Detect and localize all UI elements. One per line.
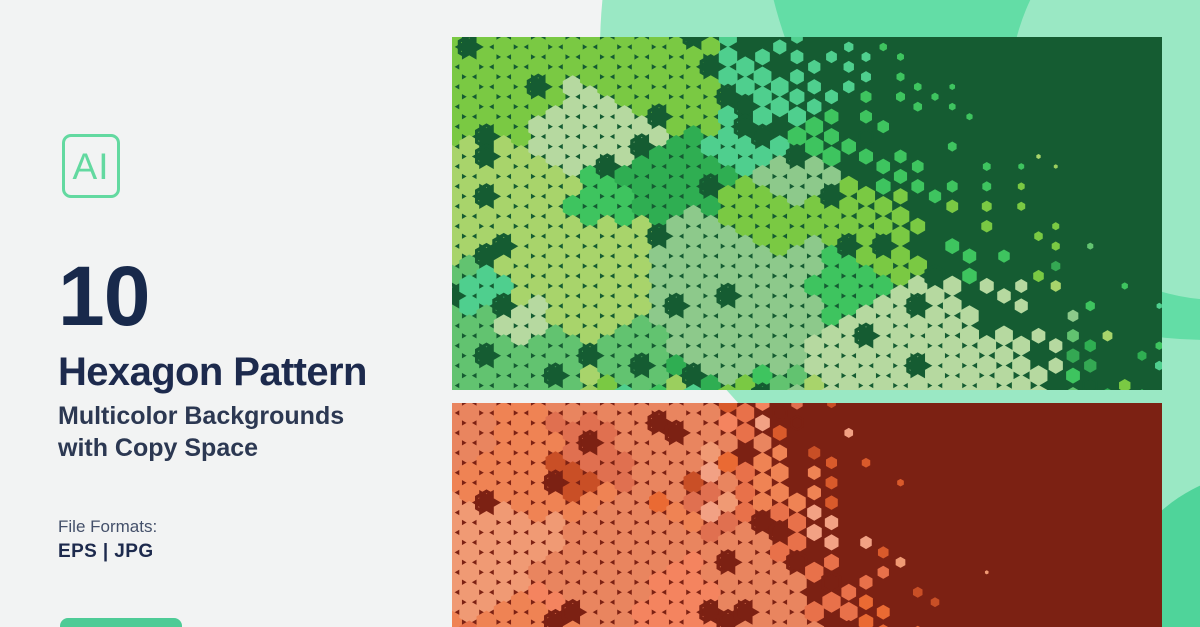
page-subtitle: Multicolor Backgrounds with Copy Space [58, 400, 438, 464]
info-column: AI 10 Hexagon Pattern Multicolor Backgro… [0, 0, 452, 627]
product-preview-banner: AI 10 Hexagon Pattern Multicolor Backgro… [0, 0, 1200, 627]
page-subtitle-line-1: Multicolor Backgrounds [58, 400, 438, 432]
green-hexagon-pattern [452, 37, 1162, 390]
ai-badge-label: AI [73, 148, 110, 185]
file-formats-label: File Formats: [58, 518, 157, 535]
ai-file-badge-icon: AI [62, 134, 120, 198]
item-count: 10 [58, 254, 149, 338]
orange-hexagon-pattern [452, 403, 1162, 627]
cta-button[interactable] [60, 618, 182, 627]
page-title: Hexagon Pattern [58, 352, 367, 392]
green-hexagon-preview[interactable] [452, 37, 1162, 390]
page-subtitle-line-2: with Copy Space [58, 432, 438, 464]
orange-hexagon-preview[interactable] [452, 403, 1162, 627]
file-formats-value: EPS | JPG [58, 542, 154, 561]
